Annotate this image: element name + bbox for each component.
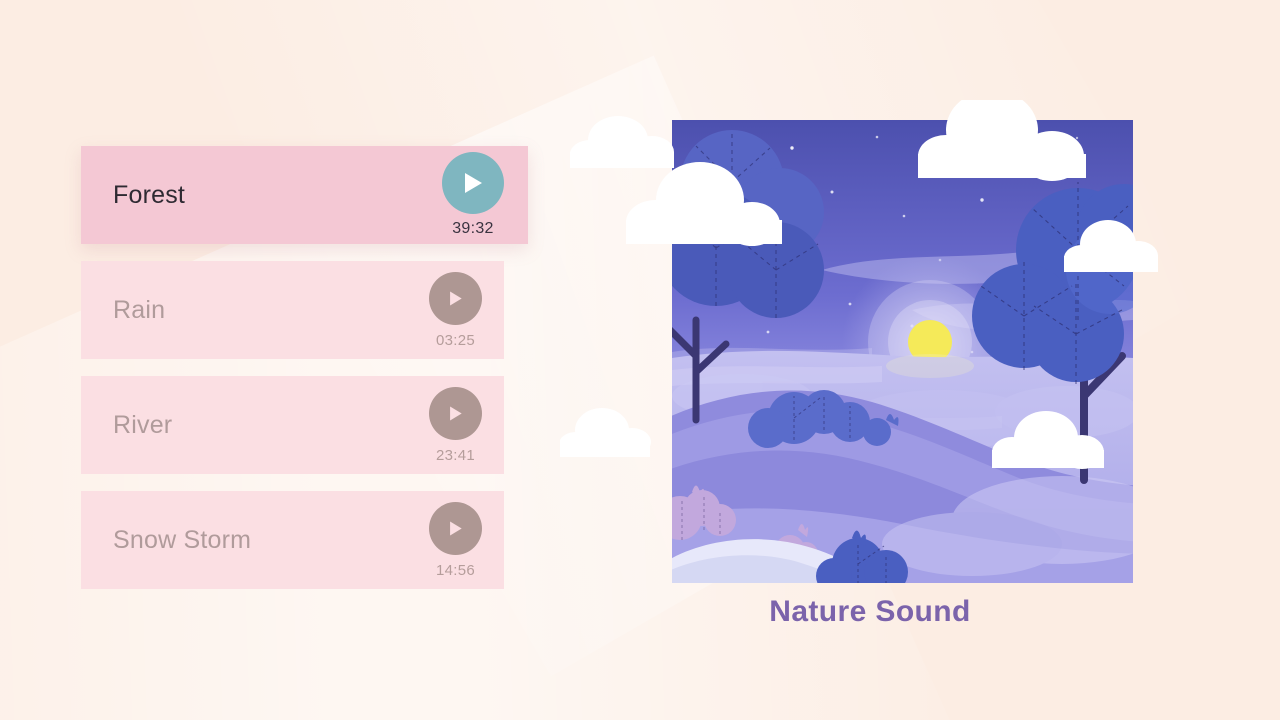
play-button[interactable]	[429, 387, 482, 440]
artwork-panel: Nature Sound	[560, 100, 1180, 640]
track-controls: 23:41	[429, 376, 482, 474]
track-item-rain[interactable]: Rain 03:25	[81, 261, 504, 359]
play-button[interactable]	[442, 152, 504, 214]
play-icon	[447, 289, 464, 308]
track-duration: 14:56	[436, 562, 475, 579]
track-controls: 14:56	[429, 491, 482, 589]
play-button[interactable]	[429, 272, 482, 325]
track-item-forest[interactable]: Forest 39:32	[81, 146, 528, 244]
track-duration: 23:41	[436, 447, 475, 464]
play-icon	[447, 404, 464, 423]
track-title: River	[113, 411, 172, 440]
album-title: Nature Sound	[560, 595, 1180, 629]
album-artwork[interactable]	[672, 120, 1133, 583]
track-duration: 39:32	[452, 220, 494, 238]
play-icon	[447, 519, 464, 538]
track-item-river[interactable]: River 23:41	[81, 376, 504, 474]
track-title: Rain	[113, 296, 165, 325]
track-item-snow-storm[interactable]: Snow Storm 14:56	[81, 491, 504, 589]
track-title: Forest	[113, 181, 185, 210]
cloud-bottom-left	[560, 408, 651, 457]
track-controls: 03:25	[429, 261, 482, 359]
play-button[interactable]	[429, 502, 482, 555]
track-controls: 39:32	[442, 146, 504, 244]
playlist: Forest 39:32 Rain 03:25 River	[81, 146, 541, 606]
cloud-top-left	[570, 116, 674, 168]
play-icon	[462, 171, 484, 195]
track-title: Snow Storm	[113, 526, 251, 555]
track-duration: 03:25	[436, 332, 475, 349]
